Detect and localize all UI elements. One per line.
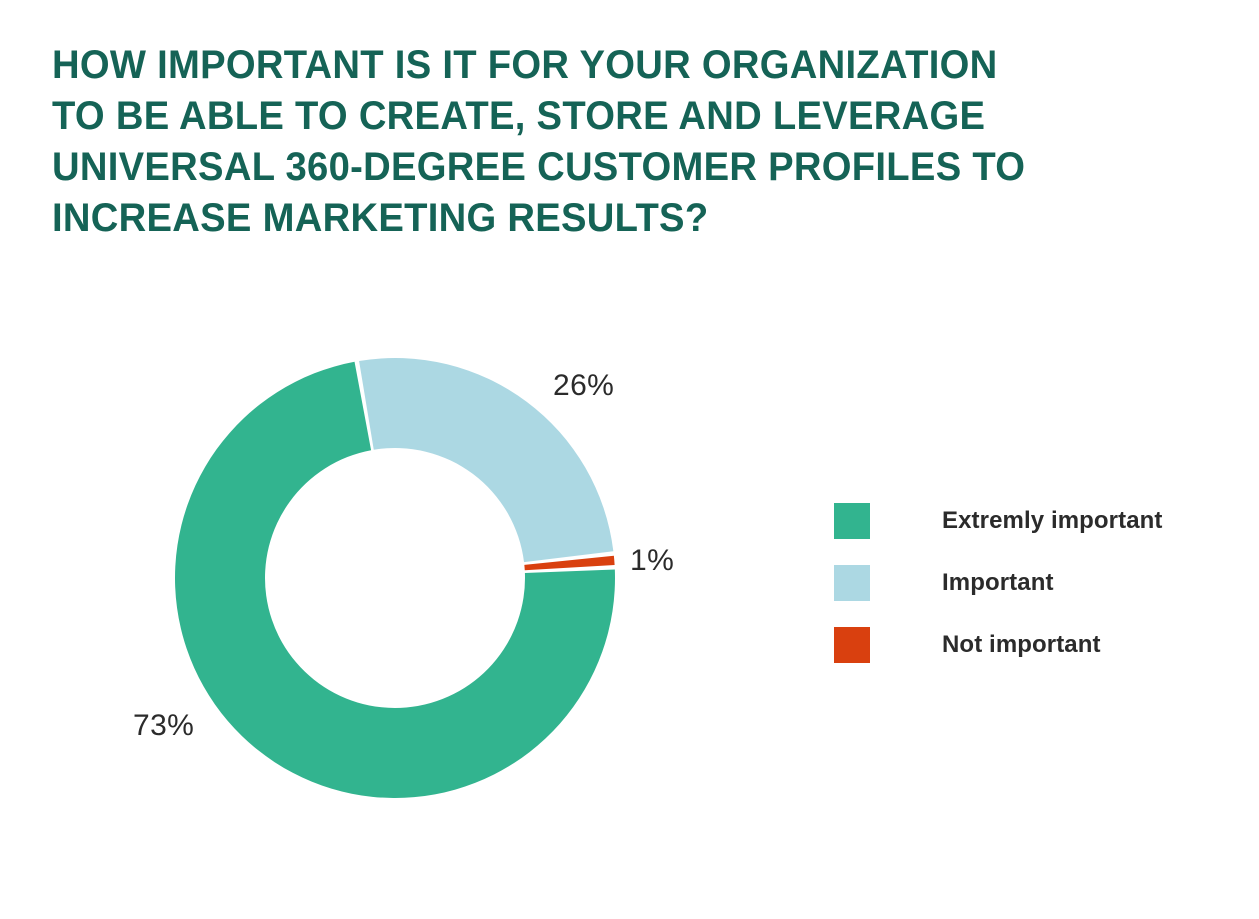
donut-slice-group [175, 358, 615, 798]
slice-label-important: 26% [553, 369, 614, 403]
slice-label-not-important: 1% [630, 544, 674, 578]
legend-label-extremely-important: Extremly important [942, 507, 1163, 535]
legend-label-not-important: Not important [942, 631, 1101, 659]
legend-item-important[interactable]: Important [834, 565, 1214, 601]
donut-chart-svg [0, 0, 800, 919]
legend-label-important: Important [942, 569, 1054, 597]
legend-item-extremely-important[interactable]: Extremly important [834, 503, 1214, 539]
donut-chart: 26% 1% 73% [0, 0, 800, 919]
legend-item-not-important[interactable]: Not important [834, 627, 1214, 663]
slice-label-extremely-important: 73% [133, 709, 194, 743]
legend-swatch-icon-important [834, 565, 870, 601]
legend-swatch-icon-not-important [834, 627, 870, 663]
legend-swatch-icon-extremely-important [834, 503, 870, 539]
legend: Extremly important Important Not importa… [834, 503, 1214, 689]
